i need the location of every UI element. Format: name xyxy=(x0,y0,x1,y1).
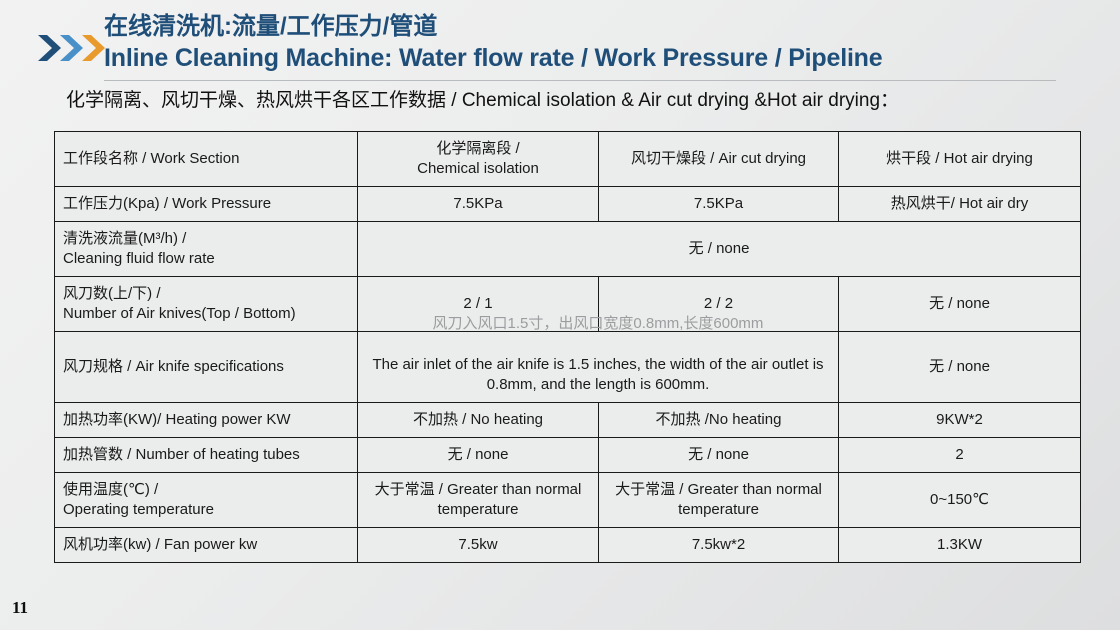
cell-heating-tubes-chemical: 无 / none xyxy=(358,438,599,473)
cell-air-knife-spec-en: The air inlet of the air knife is 1.5 in… xyxy=(366,339,830,395)
row-label-number-of-air-knives: 风刀数(上/下) / Number of Air knives(Top / Bo… xyxy=(55,277,358,332)
cell-heating-power-hotair: 9KW*2 xyxy=(839,403,1081,438)
row-label-fan-power: 风机功率(kw) / Fan power kw xyxy=(55,528,358,563)
row-label-number-of-heating-tubes: 加热管数 / Number of heating tubes xyxy=(55,438,358,473)
col-header-air-cut-drying: 风切干燥段 / Air cut drying xyxy=(599,132,839,187)
col-header-line1: 化学隔离段 / xyxy=(436,140,519,157)
cell-operating-temp-aircut: 大于常温 / Greater than normal temperature xyxy=(599,473,839,528)
cell-air-knives-aircut: 2 / 2 xyxy=(599,277,839,332)
row-label-cleaning-fluid-flow-rate: 清洗液流量(M³/h) / Cleaning fluid flow rate xyxy=(55,222,358,277)
row-label-line1: 风刀数(上/下) / xyxy=(63,285,161,302)
page-number: 11 xyxy=(12,598,28,618)
subtitle: 化学隔离、风切干燥、热风烘干各区工作数据 / Chemical isolatio… xyxy=(66,88,899,114)
col-header-line2: Chemical isolation xyxy=(417,160,539,177)
triple-chevron-icon xyxy=(36,31,106,65)
cell-fan-power-aircut: 7.5kw*2 xyxy=(599,528,839,563)
cell-air-knives-chemical: 2 / 1 xyxy=(358,277,599,332)
cell-cleaning-fluid-merged: 无 / none xyxy=(358,222,1081,277)
row-label-work-pressure: 工作压力(Kpa) / Work Pressure xyxy=(55,187,358,222)
spec-table: 工作段名称 / Work Section 化学隔离段 / Chemical is… xyxy=(54,131,1081,563)
row-label-operating-temperature: 使用温度(℃) / Operating temperature xyxy=(55,473,358,528)
cell-operating-temp-hotair: 0~150℃ xyxy=(839,473,1081,528)
spec-table-wrapper: 工作段名称 / Work Section 化学隔离段 / Chemical is… xyxy=(54,131,1080,563)
cell-heating-power-chemical: 不加热 / No heating xyxy=(358,403,599,438)
cell-heating-power-aircut: 不加热 /No heating xyxy=(599,403,839,438)
col-header-chemical-isolation: 化学隔离段 / Chemical isolation xyxy=(358,132,599,187)
table-row: 加热功率(KW)/ Heating power KW 不加热 / No heat… xyxy=(55,403,1081,438)
cell-work-pressure-aircut: 7.5KPa xyxy=(599,187,839,222)
cell-air-knife-spec-hotair: 无 / none xyxy=(839,332,1081,403)
cell-fan-power-hotair: 1.3KW xyxy=(839,528,1081,563)
row-label-line2: Operating temperature xyxy=(63,501,214,518)
slide-header: 在线清洗机:流量/工作压力/管道 Inline Cleaning Machine… xyxy=(0,0,1120,120)
cell-work-pressure-chemical: 7.5KPa xyxy=(358,187,599,222)
row-label-work-section: 工作段名称 / Work Section xyxy=(55,132,358,187)
row-label-line2: Number of Air knives(Top / Bottom) xyxy=(63,305,296,322)
row-label-heating-power: 加热功率(KW)/ Heating power KW xyxy=(55,403,358,438)
cell-operating-temp-chemical: 大于常温 / Greater than normal temperature xyxy=(358,473,599,528)
row-label-line1: 使用温度(℃) / xyxy=(63,481,158,498)
table-row: 加热管数 / Number of heating tubes 无 / none … xyxy=(55,438,1081,473)
row-label-line1: 清洗液流量(M³/h) / xyxy=(63,230,186,247)
row-label-line2: Cleaning fluid flow rate xyxy=(63,250,215,267)
cell-heating-tubes-aircut: 无 / none xyxy=(599,438,839,473)
cell-air-knives-hotair: 无 / none xyxy=(839,277,1081,332)
page-title-en: Inline Cleaning Machine: Water flow rate… xyxy=(104,42,1104,74)
col-header-hot-air-drying: 烘干段 / Hot air drying xyxy=(839,132,1081,187)
table-row: 工作压力(Kpa) / Work Pressure 7.5KPa 7.5KPa … xyxy=(55,187,1081,222)
table-row: 工作段名称 / Work Section 化学隔离段 / Chemical is… xyxy=(55,132,1081,187)
table-row: 清洗液流量(M³/h) / Cleaning fluid flow rate 无… xyxy=(55,222,1081,277)
row-label-air-knife-specifications: 风刀规格 / Air knife specifications xyxy=(55,332,358,403)
cell-heating-tubes-hotair: 2 xyxy=(839,438,1081,473)
table-row: 风刀数(上/下) / Number of Air knives(Top / Bo… xyxy=(55,277,1081,332)
cell-fan-power-chemical: 7.5kw xyxy=(358,528,599,563)
cell-work-pressure-hotair: 热风烘干/ Hot air dry xyxy=(839,187,1081,222)
page-title-cn: 在线清洗机:流量/工作压力/管道 xyxy=(104,12,1104,42)
table-row: 风刀规格 / Air knife specifications 风刀入风口1.5… xyxy=(55,332,1081,403)
title-divider xyxy=(104,80,1056,81)
table-row: 风机功率(kw) / Fan power kw 7.5kw 7.5kw*2 1.… xyxy=(55,528,1081,563)
cell-air-knife-spec-merged: 风刀入风口1.5寸，出风口宽度0.8mm,长度600mm The air inl… xyxy=(358,332,839,403)
title-block: 在线清洗机:流量/工作压力/管道 Inline Cleaning Machine… xyxy=(104,12,1104,74)
table-row: 使用温度(℃) / Operating temperature 大于常温 / G… xyxy=(55,473,1081,528)
